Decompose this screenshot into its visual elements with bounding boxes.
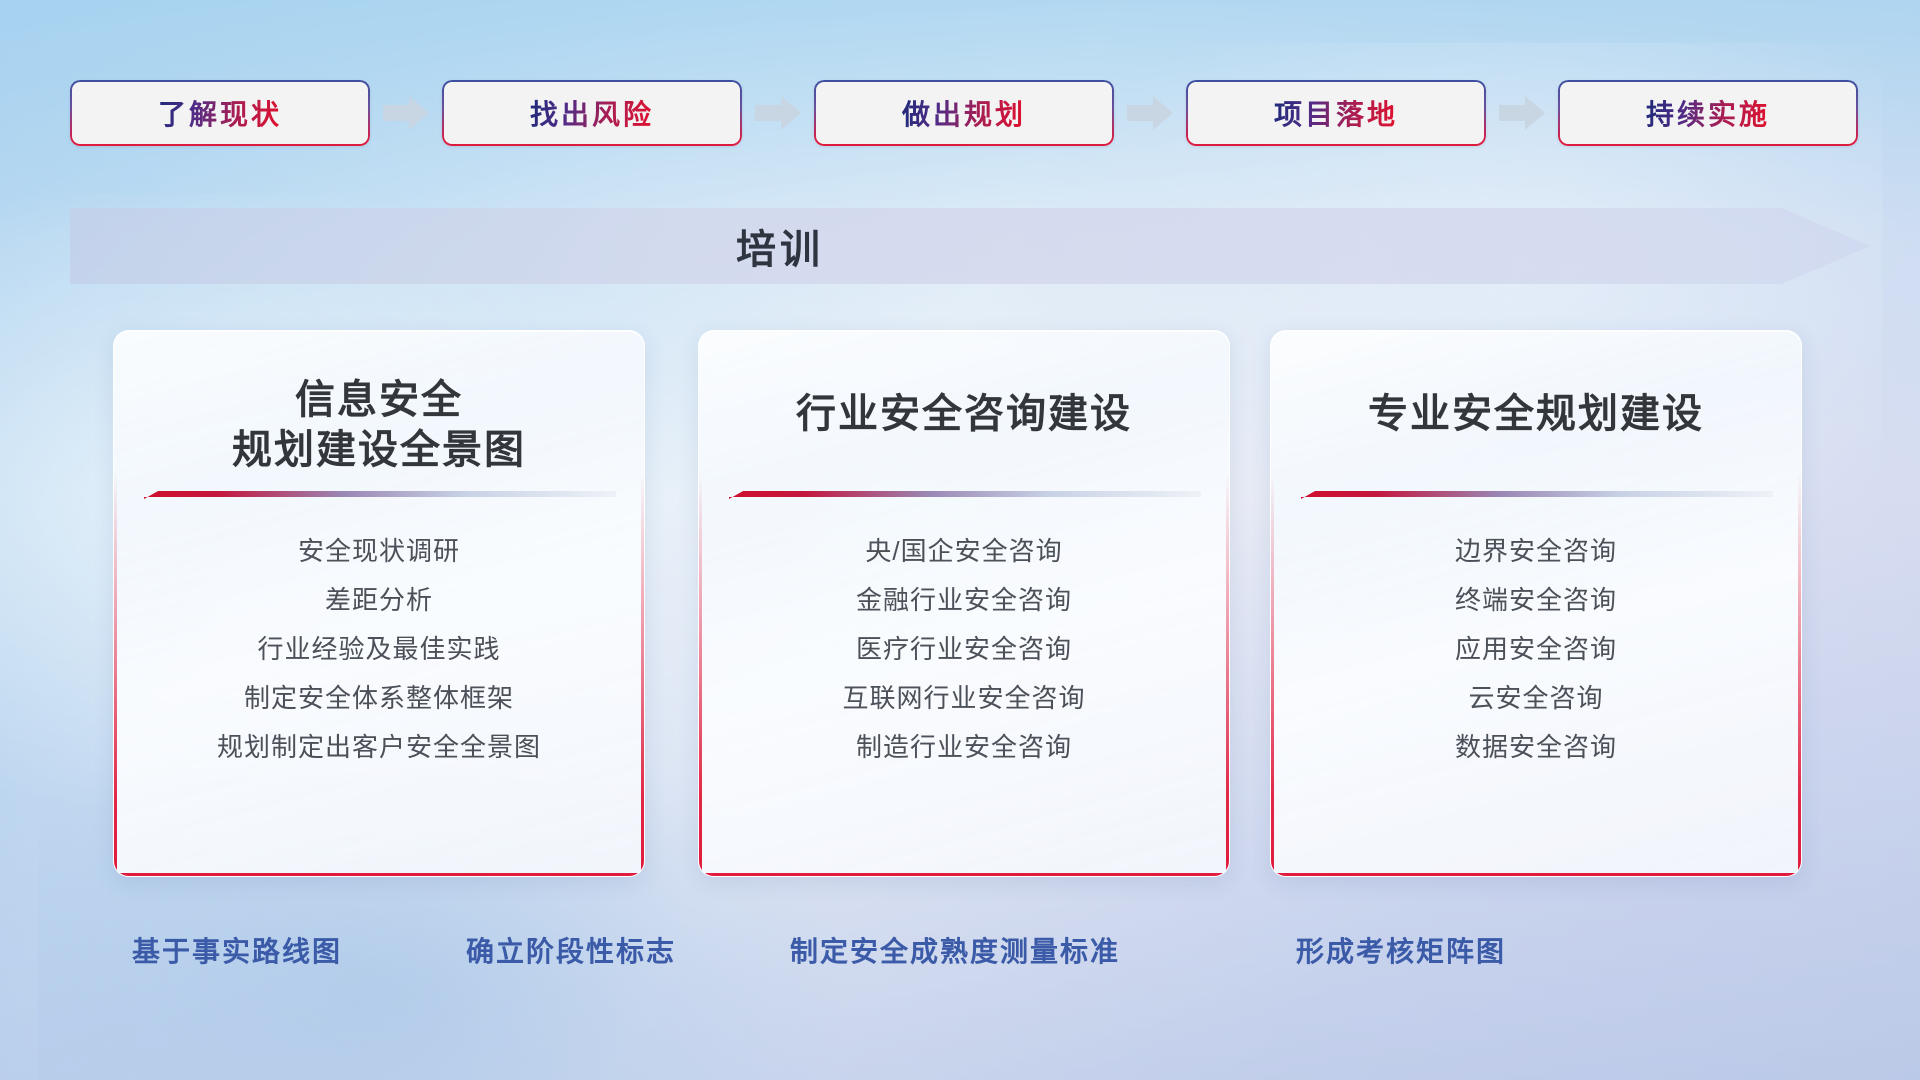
process-step-bar: 了解现状 找出风险 做出规划 项目落地 <box>70 78 1860 148</box>
footer-label-2: 确立阶段性标志 <box>466 930 676 970</box>
divider-gradient-bar <box>1301 491 1773 499</box>
list-item: 数据安全咨询 <box>1271 723 1801 772</box>
card-accent-rail-bottom <box>114 873 644 876</box>
process-arrow-4 <box>1486 96 1558 130</box>
process-step-5[interactable]: 持续实施 <box>1558 80 1858 146</box>
footer-label-3: 制定安全成熟度测量标准 <box>790 930 1120 970</box>
card-3-list: 边界安全咨询 终端安全咨询 应用安全咨询 云安全咨询 数据安全咨询 <box>1271 527 1801 772</box>
process-arrow-2 <box>742 96 814 130</box>
card-3-title: 专业安全规划建设 <box>1271 389 1801 439</box>
list-item: 制定安全体系整体框架 <box>114 674 644 723</box>
process-step-5-label: 持续实施 <box>1646 93 1770 133</box>
divider-gradient-bar <box>144 491 616 499</box>
card-industry-security-consulting[interactable]: 行业安全咨询建设 央/国企安全咨询 <box>698 330 1230 877</box>
footer-label-1: 基于事实路线图 <box>132 930 342 970</box>
process-step-2-label: 找出风险 <box>530 93 654 133</box>
card-accent-rail-bottom <box>699 873 1229 876</box>
card-2-list: 央/国企安全咨询 金融行业安全咨询 医疗行业安全咨询 互联网行业安全咨询 制造行… <box>699 527 1229 772</box>
list-item: 行业经验及最佳实践 <box>114 625 644 674</box>
card-3-divider <box>1301 491 1773 499</box>
list-item: 边界安全咨询 <box>1271 527 1801 576</box>
card-professional-security-planning[interactable]: 专业安全规划建设 边界安全咨询 <box>1270 330 1802 877</box>
card-information-security-blueprint[interactable]: 信息安全 规划建设全景图 安全现状调研 <box>113 330 645 877</box>
process-step-3[interactable]: 做出规划 <box>814 80 1114 146</box>
card-grid: 信息安全 规划建设全景图 安全现状调研 <box>0 330 1920 890</box>
process-step-3-label: 做出规划 <box>902 93 1026 133</box>
process-arrow-1 <box>370 96 442 130</box>
arrow-right-icon <box>1499 96 1545 130</box>
list-item: 医疗行业安全咨询 <box>699 625 1229 674</box>
list-item: 金融行业安全咨询 <box>699 576 1229 625</box>
card-1-divider <box>144 491 616 499</box>
arrow-right-icon <box>1127 96 1173 130</box>
list-item: 安全现状调研 <box>114 527 644 576</box>
list-item: 制造行业安全咨询 <box>699 723 1229 772</box>
card-1-list: 安全现状调研 差距分析 行业经验及最佳实践 制定安全体系整体框架 规划制定出客户… <box>114 527 644 772</box>
footer-label-4: 形成考核矩阵图 <box>1296 930 1506 970</box>
training-banner: 培训 <box>70 208 1870 284</box>
list-item: 应用安全咨询 <box>1271 625 1801 674</box>
card-accent-rail-bottom <box>1271 873 1801 876</box>
list-item: 云安全咨询 <box>1271 674 1801 723</box>
card-1-title: 信息安全 规划建设全景图 <box>114 375 644 475</box>
process-step-1-label: 了解现状 <box>158 93 282 133</box>
list-item: 终端安全咨询 <box>1271 576 1801 625</box>
process-arrow-3 <box>1114 96 1186 130</box>
list-item: 央/国企安全咨询 <box>699 527 1229 576</box>
divider-gradient-bar <box>729 491 1201 499</box>
list-item: 差距分析 <box>114 576 644 625</box>
card-2-divider <box>729 491 1201 499</box>
list-item: 规划制定出客户安全全景图 <box>114 723 644 772</box>
process-step-1[interactable]: 了解现状 <box>70 80 370 146</box>
footer-label-row: 基于事实路线图 确立阶段性标志 制定安全成熟度测量标准 形成考核矩阵图 <box>0 930 1920 990</box>
arrow-right-icon <box>383 96 429 130</box>
arrow-right-icon <box>755 96 801 130</box>
process-step-4[interactable]: 项目落地 <box>1186 80 1486 146</box>
list-item: 互联网行业安全咨询 <box>699 674 1229 723</box>
process-step-2[interactable]: 找出风险 <box>442 80 742 146</box>
card-2-title: 行业安全咨询建设 <box>699 389 1229 439</box>
process-step-4-label: 项目落地 <box>1274 93 1398 133</box>
banner-title: 培训 <box>70 208 1490 284</box>
slide-stage: 了解现状 找出风险 做出规划 项目落地 <box>0 0 1920 1080</box>
